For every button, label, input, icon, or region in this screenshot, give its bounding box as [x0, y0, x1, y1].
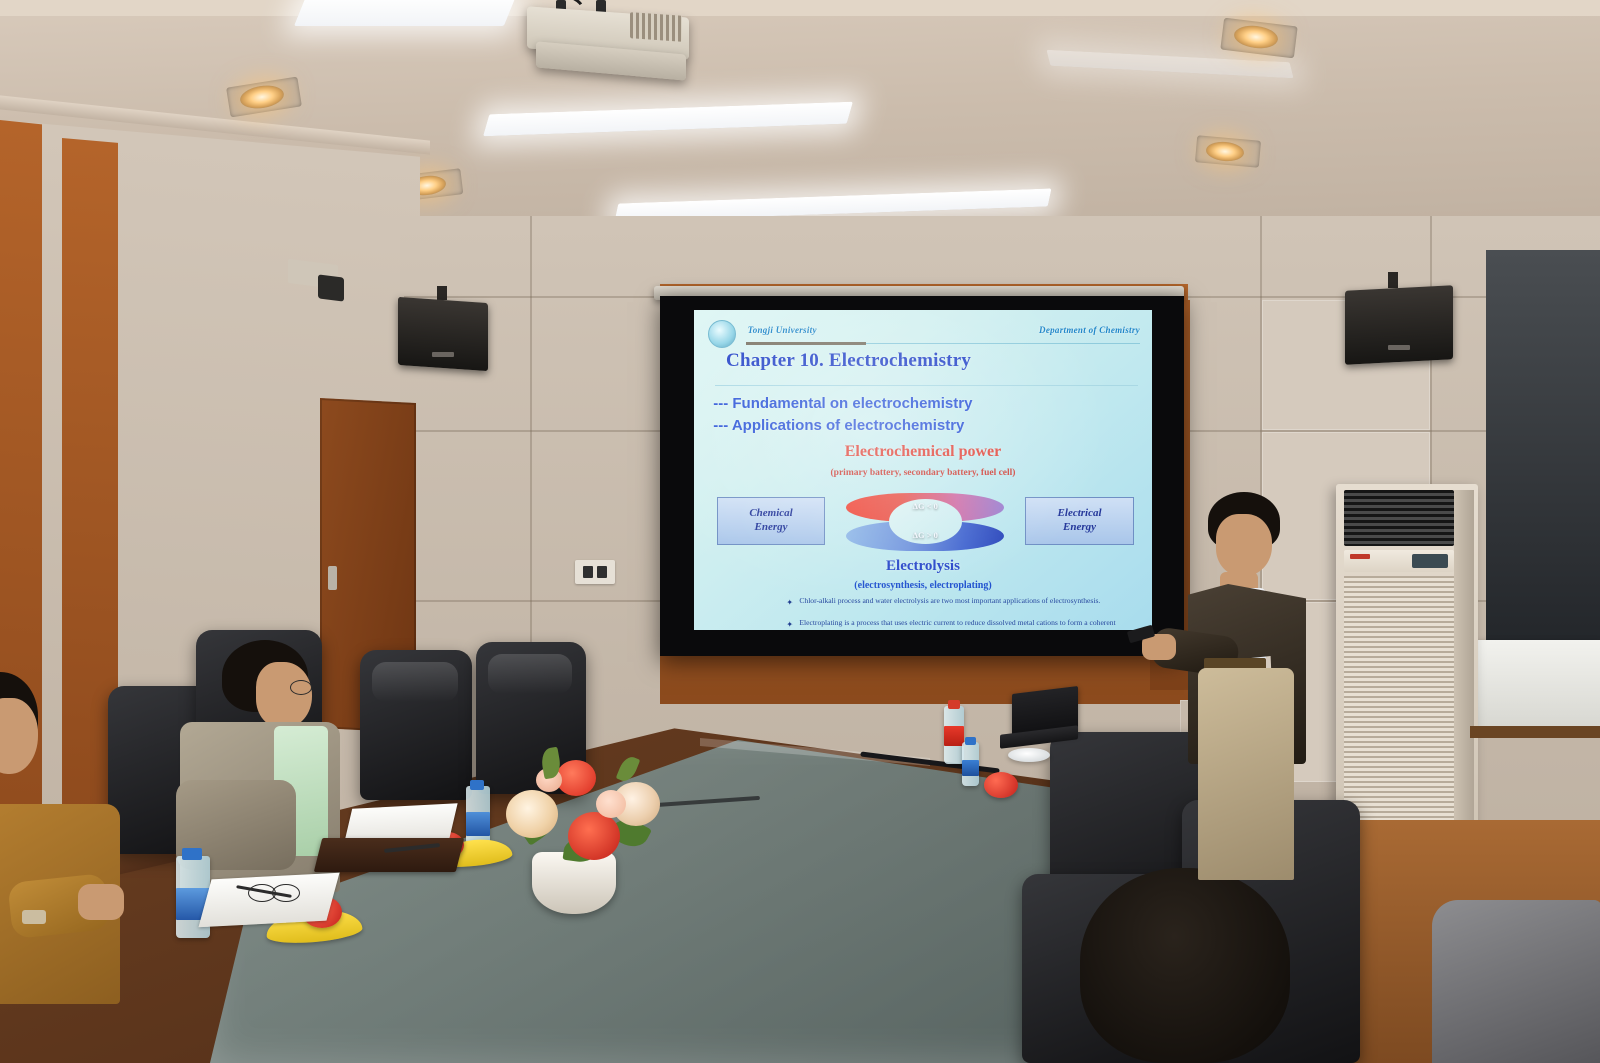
slide-electrolysis-point-2-text: Electroplating is a process that uses el… [799, 618, 1115, 630]
diagram-delta-g-negative: ΔG < 0 [846, 501, 1004, 511]
conference-room-scene: Tongji University Department of Chemistr… [0, 0, 1600, 1063]
slide-header-rule-right [866, 343, 1140, 344]
attendee-1-hands [78, 884, 124, 920]
slide-title: Chapter 10. Electrochemistry [726, 350, 971, 372]
presenter-trousers [1198, 668, 1294, 880]
ac-front-grille [1344, 576, 1454, 860]
flower-red-1 [556, 760, 596, 796]
ac-display [1412, 554, 1448, 568]
slide-electrolysis-point-2: ✦ Electroplating is a process that uses … [799, 618, 1133, 630]
ac-brand-mark [1350, 554, 1370, 559]
chair-2-gloss [488, 654, 572, 694]
speaker-right-bracket [1388, 272, 1398, 288]
bullet-diamond-icon-2: ✦ [786, 619, 793, 630]
electrical-energy-line1: Electrical [1058, 507, 1102, 521]
water-bottle-4-cap [182, 848, 202, 860]
attendee-4-torso [1432, 900, 1600, 1063]
projector-vent [630, 12, 682, 42]
diagram-arrows: ΔG < 0 ΔG > 0 [846, 489, 1004, 553]
energy-conversion-diagram: Chemical Energy ΔG < 0 ΔG > 0 Electrical… [717, 489, 1134, 553]
saucer [1008, 748, 1050, 762]
water-bottle-1-cap [948, 700, 960, 709]
slide-electrolysis-heading: Electrolysis [694, 558, 1152, 575]
flower-vase [532, 852, 616, 914]
water-bottle-2-label [962, 760, 979, 776]
ceiling-camera [318, 274, 344, 301]
wall-outlet-plate[interactable] [575, 560, 615, 584]
water-bottle-1-label [944, 726, 964, 746]
ceiling-edge [0, 0, 1600, 16]
slide-electrolysis-point-1: ✦ Chlor-alkali process and water electro… [799, 596, 1133, 607]
speaker-left-bracket [437, 286, 447, 300]
water-bottle-2-cap [965, 737, 976, 745]
attendee-front-left [0, 672, 150, 1002]
wall-outlet-socket-2 [597, 566, 607, 578]
water-bottle-3-cap [470, 780, 484, 790]
slide-department-label: Department of Chemistry [1039, 325, 1140, 335]
wall-whiteboard [1476, 640, 1600, 726]
chemical-energy-line2: Energy [755, 521, 788, 535]
attendee-2-glasses [290, 680, 312, 695]
floor-baseboard-right [1470, 726, 1600, 738]
wall-dark-right [1486, 250, 1600, 650]
speaker-left-badge [432, 352, 454, 357]
ac-side-panel [1454, 490, 1474, 860]
slide-electrolysis-point-1-text: Chlor-alkali process and water electroly… [799, 596, 1100, 605]
water-bottle-3-label [466, 812, 490, 836]
attendee-2-face [256, 662, 312, 728]
flower-peach-1 [596, 790, 626, 818]
slide-title-underline [715, 385, 1139, 386]
slide-bullet-applications: --- Applications of electrochemistry [713, 417, 964, 434]
chemical-energy-line1: Chemical [749, 507, 792, 521]
attendee-far-right [1432, 900, 1600, 1063]
presenter-face [1216, 514, 1272, 576]
chair-1-gloss [372, 662, 458, 702]
slide-electrolysis-subtitle: (electrosynthesis, electroplating) [694, 580, 1152, 591]
slide-university-label: Tongji University [748, 325, 817, 335]
diagram-chemical-energy-box: Chemical Energy [717, 497, 825, 545]
diagram-electrical-energy-box: Electrical Energy [1025, 497, 1133, 545]
wall-speaker-right [1345, 285, 1453, 365]
speaker-right-badge [1388, 345, 1410, 350]
ac-top-vent [1344, 490, 1454, 546]
wall-speaker-left [398, 297, 488, 371]
bullet-diamond-icon-1: ✦ [786, 597, 793, 608]
slide-header-rule-left [746, 342, 866, 345]
electrical-energy-line2: Energy [1063, 521, 1096, 535]
projected-slide: Tongji University Department of Chemistr… [694, 310, 1152, 630]
wall-outlet-socket-1 [583, 566, 593, 578]
attendee-3-hair [1080, 868, 1290, 1063]
diagram-delta-g-positive: ΔG > 0 [846, 530, 1004, 540]
slide-bullet-fundamental: --- Fundamental on electrochemistry [713, 395, 972, 412]
slide-electrochemical-power-subtitle: (primary battery, secondary battery, fue… [694, 468, 1152, 478]
attendee-1-watch [22, 910, 46, 924]
slide-header: Tongji University Department of Chemistr… [708, 320, 1142, 346]
flower-cream-1 [506, 790, 558, 838]
apple-3 [984, 772, 1018, 798]
university-seal-logo [708, 320, 736, 348]
flower-red-2 [568, 812, 620, 860]
presenter [1190, 492, 1330, 882]
door-handle[interactable] [328, 566, 337, 590]
ceiling-troffer-1 [294, 0, 516, 26]
slide-electrochemical-power-heading: Electrochemical power [694, 443, 1152, 461]
document-folder [314, 838, 464, 872]
attendee-foreground-right [1080, 868, 1300, 1063]
